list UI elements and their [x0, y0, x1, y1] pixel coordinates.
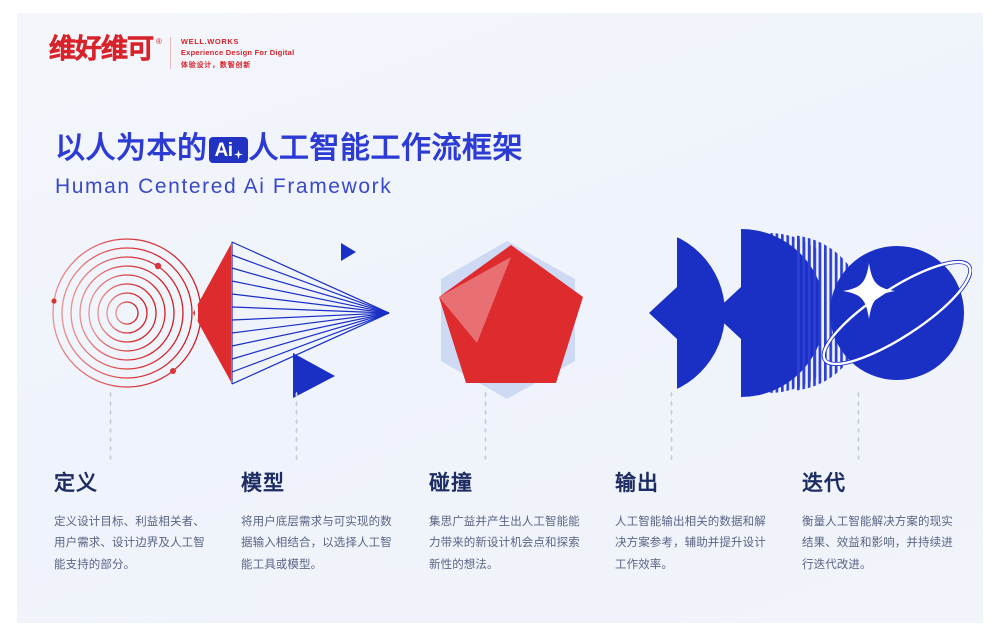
title-block: 以人为本的 Ai 人工智能工作流框架 Human Centered Ai Fra… [55, 131, 523, 199]
step-heading: 定义 [54, 473, 214, 494]
step-body: 人工智能输出相关的数据和解决方案参考，辅助并提升设计工作效率。 [615, 511, 775, 575]
crescent-stack-stripes-illustration [619, 227, 819, 399]
connector-dots-3 [484, 390, 487, 460]
brand-tagline-en: Experience Design For Digital [181, 48, 295, 59]
page-title: 以人为本的 Ai 人工智能工作流框架 [55, 131, 523, 168]
logo-text-block: WELL.WORKS Experience Design For Digital… [181, 37, 295, 71]
step-body: 定义设计目标、利益相关者、用户需求、设计边界及人工智能支持的部分。 [54, 511, 214, 575]
step-column-iterate: 迭代 衡量人工智能解决方案的现实结果、效益和影响，并持续进行迭代改进。 [802, 473, 962, 575]
step-column-output: 输出 人工智能输出相关的数据和解决方案参考，辅助并提升设计工作效率。 [615, 473, 775, 575]
step-body: 将用户底层需求与可实现的数据输入相结合，以选择人工智能工具或模型。 [241, 511, 401, 575]
title-suffix: 人工智能工作流框架 [249, 131, 524, 168]
step-heading: 模型 [241, 473, 401, 494]
ai-badge: Ai [209, 137, 248, 163]
step-heading: 碰撞 [429, 473, 589, 494]
pentagon-facet-illustration [415, 231, 605, 401]
title-prefix: 以人为本的 [55, 131, 208, 168]
step-heading: 迭代 [802, 473, 962, 494]
page-subtitle: Human Centered Ai Framework [55, 175, 523, 199]
step-body: 集思广益并产生出人工智能能力带来的新设计机会点和探索新性的想法。 [429, 511, 589, 575]
brand-name-en: WELL.WORKS [181, 37, 295, 48]
sparkle-icon [234, 132, 243, 169]
logo-divider [170, 37, 171, 69]
registered-trademark-icon: ® [156, 37, 162, 46]
brand-logo: 维好维可 ® WELL.WORKS Experience Design For … [49, 36, 294, 71]
step-column-model: 模型 将用户底层需求与可实现的数据输入相结合，以选择人工智能工具或模型。 [241, 473, 401, 575]
step-column-define: 定义 定义设计目标、利益相关者、用户需求、设计边界及人工智能支持的部分。 [54, 473, 214, 575]
brand-tagline-cn: 体验设计，数智创新 [181, 60, 295, 71]
ringed-planet-sparkle-illustration [797, 227, 972, 399]
step-heading: 输出 [615, 473, 775, 494]
step-body: 衡量人工智能解决方案的现实结果、效益和影响，并持续进行迭代改进。 [802, 511, 962, 575]
slide-canvas: 维好维可 ® WELL.WORKS Experience Design For … [17, 13, 983, 623]
logo-wordmark-cn: 维好维可 [49, 36, 153, 63]
connector-dots-5 [857, 390, 860, 460]
step-column-collide: 碰撞 集思广益并产生出人工智能能力带来的新设计机会点和探索新性的想法。 [429, 473, 589, 575]
radar-cone-rays-illustration [45, 228, 395, 398]
connector-dots-2 [295, 390, 298, 460]
connector-dots-4 [670, 390, 673, 460]
connector-dots-1 [109, 390, 112, 460]
ai-badge-label: Ai [215, 141, 233, 160]
